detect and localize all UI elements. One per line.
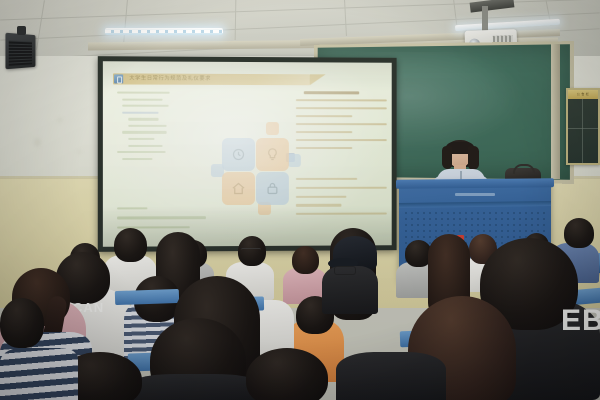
- right-column-line: [296, 123, 387, 125]
- right-column-line: [296, 147, 352, 149]
- student-head: [564, 218, 594, 248]
- clock-icon: [231, 147, 246, 162]
- lightbulb-icon: [265, 147, 280, 162]
- right-column-line: [296, 131, 352, 133]
- four-quadrant-icon-diagram: [210, 116, 296, 206]
- eyeglasses-icon: [241, 248, 261, 254]
- outline-line: [122, 98, 162, 100]
- student-torso-striped: [0, 348, 78, 400]
- notice-board-header: 公 告 栏: [568, 90, 598, 99]
- speaker-grill: [9, 40, 32, 65]
- slide-right-column: [296, 91, 387, 154]
- right-column-line: [296, 139, 387, 141]
- student-head: [114, 228, 147, 262]
- outline-line: [122, 105, 169, 107]
- lecture-hall-photo: 公 告 栏 大学生日常行为规范及礼仪要求: [0, 0, 600, 400]
- slide-title: 大学生日常行为规范及礼仪要求: [129, 74, 211, 83]
- right-column-line: [296, 99, 387, 102]
- wall-smudge: [78, 150, 81, 154]
- podium-top-surface: [396, 178, 554, 189]
- wall-loudspeaker: [5, 33, 35, 70]
- school-crest-icon: [114, 74, 123, 83]
- student-head: [292, 246, 319, 274]
- right-column2-line: [296, 178, 357, 180]
- right-column-heading: [304, 91, 359, 94]
- right-column2-line: [296, 187, 387, 189]
- student-torso: [336, 352, 446, 400]
- right-column-line: [296, 107, 387, 110]
- connector-tab-right: [288, 154, 301, 167]
- desk-surface: [115, 289, 179, 305]
- diagram-tile-top-left: [222, 138, 255, 171]
- outline-line: [128, 125, 166, 127]
- outline-line: [128, 145, 162, 147]
- wall-smudge: [34, 138, 41, 147]
- outline-line: [117, 151, 166, 153]
- home-icon: [231, 181, 246, 196]
- diagram-tile-top-right: [256, 138, 289, 171]
- diagram-tile-bottom-left: [222, 172, 255, 205]
- right-column-line: [296, 115, 352, 117]
- eyeglasses-icon: [334, 266, 356, 275]
- projector-mount: [482, 6, 488, 32]
- projection-screen: 大学生日常行为规范及礼仪要求: [98, 56, 397, 252]
- footer-line: [117, 207, 147, 210]
- right-column2-line: [296, 213, 387, 216]
- outline-line: [122, 131, 167, 133]
- student-head: [0, 298, 44, 348]
- student-torso: [130, 374, 260, 400]
- presenter-hair-right: [468, 146, 479, 170]
- slide-title-bar: 大学生日常行为规范及礼仪要求: [113, 73, 310, 85]
- shirt-print-graphic: EB: [561, 306, 600, 336]
- notice-col-divider: [582, 99, 583, 163]
- speaker-mount: [17, 26, 26, 35]
- outline-line: [122, 111, 158, 113]
- wall-smudge: [58, 118, 62, 122]
- student-head-front: [246, 348, 328, 400]
- lock-icon: [265, 181, 280, 196]
- outline-line: [128, 118, 158, 120]
- notice-board-header-text: 公 告 栏: [568, 90, 598, 99]
- podium-label: [455, 193, 495, 196]
- footer-line: [117, 217, 206, 220]
- connector-tab-top: [266, 122, 279, 135]
- outline-line: [122, 158, 152, 160]
- notice-row-divider: [568, 128, 598, 129]
- outline-line: [128, 138, 154, 140]
- fluorescent-tube-left-icon: [105, 28, 223, 35]
- right-column2-line: [296, 204, 342, 206]
- wall-notice-board: 公 告 栏: [566, 88, 600, 165]
- right-column2-line: [296, 195, 346, 197]
- outline-line: [117, 92, 170, 94]
- slide-content: 大学生日常行为规范及礼仪要求: [113, 73, 384, 224]
- slide-outline-list: [117, 92, 190, 165]
- projection-screen-surface: 大学生日常行为规范及礼仪要求: [103, 61, 392, 247]
- diagram-tile-bottom-right: [256, 172, 289, 205]
- chalkboard-post: [551, 44, 560, 179]
- presenter-hair-left: [442, 146, 452, 169]
- slide-right-column-2: [296, 178, 387, 222]
